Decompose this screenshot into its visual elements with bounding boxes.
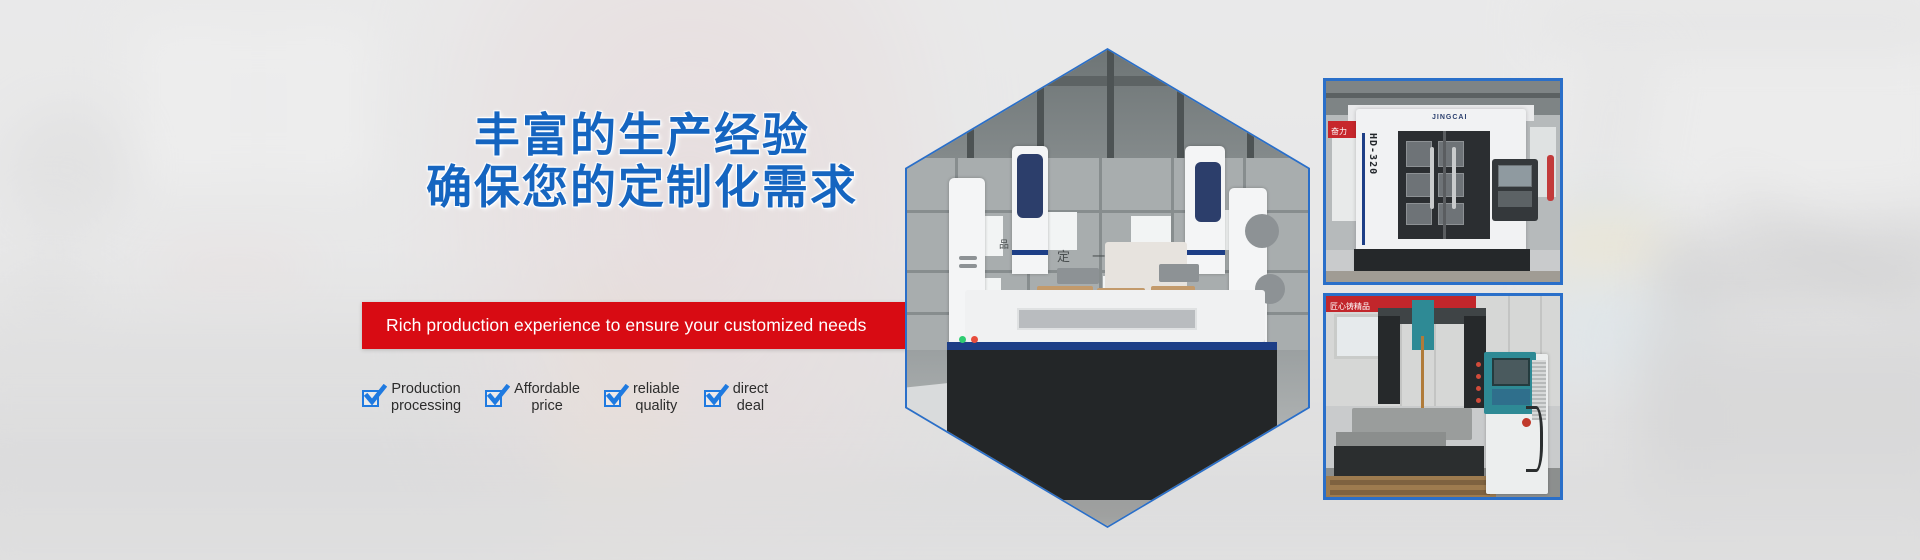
wall-banner-text: 奋力	[1328, 127, 1347, 136]
hexagon-photo: 品 定 一 初	[905, 48, 1310, 528]
machine-base	[947, 350, 1277, 500]
gantry-column-left	[1378, 316, 1400, 404]
subtitle-text: Rich production experience to ensure you…	[362, 315, 867, 336]
feature-label: direct deal	[733, 381, 768, 415]
machine-table-slot	[1017, 308, 1197, 330]
cnc-machine-scene: 品 定 一 初	[907, 50, 1308, 526]
checkbox-checked-icon	[604, 388, 624, 408]
photo-hd320-machining-center: 奋力 JINGCAI HD-320	[1323, 78, 1563, 285]
door-split	[1443, 131, 1446, 239]
headline: 丰富的生产经验 确保您的定制化需求	[362, 110, 922, 214]
headline-line-1: 丰富的生产经验	[362, 110, 922, 162]
hexagon-image-clip: 品 定 一 初	[907, 50, 1308, 526]
checkbox-checked-icon	[485, 388, 505, 408]
control-keypad[interactable]	[1498, 191, 1532, 207]
hexagon-image: 品 定 一 初	[907, 50, 1308, 526]
roof-beam	[1326, 93, 1560, 98]
gantry-column-right	[1464, 316, 1486, 408]
subtitle-red-bar: Rich production experience to ensure you…	[362, 302, 907, 349]
feature-item-production-processing: Production processing	[362, 381, 461, 415]
cabinet-screen[interactable]	[1492, 358, 1530, 386]
machine-brand-label: JINGCAI	[1432, 114, 1467, 121]
promo-banner: 丰富的生产经验 确保您的定制化需求 Rich production experi…	[0, 0, 1920, 560]
feature-item-affordable-price: Affordable price	[485, 381, 580, 415]
machine-model-label: HD-320	[1366, 133, 1378, 203]
emergency-stop-button[interactable]	[1522, 418, 1531, 427]
wall-banner-text: 匠心铸精品	[1326, 302, 1370, 311]
feature-label: Affordable price	[514, 381, 580, 415]
cabinet-control-strip[interactable]	[1492, 389, 1530, 405]
headline-line-2: 确保您的定制化需求	[362, 162, 922, 214]
feature-label: Production processing	[391, 381, 461, 415]
floor	[1326, 271, 1560, 282]
feature-item-reliable-quality: reliable quality	[604, 381, 680, 415]
wall-sign-left: 品	[999, 236, 1009, 251]
feature-item-direct-deal: direct deal	[704, 381, 768, 415]
checkbox-checked-icon	[704, 388, 724, 408]
right-photo-stack: 奋力 JINGCAI HD-320	[1323, 78, 1563, 500]
safety-rail	[1547, 155, 1554, 201]
power-cord	[1526, 406, 1543, 472]
photo-edm-machine: 匠心铸精品	[1323, 293, 1563, 500]
feature-list: Production processing Affordable price r…	[362, 374, 872, 422]
feature-label: reliable quality	[633, 381, 680, 415]
checkbox-checked-icon	[362, 388, 382, 408]
control-screen[interactable]	[1498, 165, 1532, 187]
machine-stripe	[1362, 133, 1365, 245]
